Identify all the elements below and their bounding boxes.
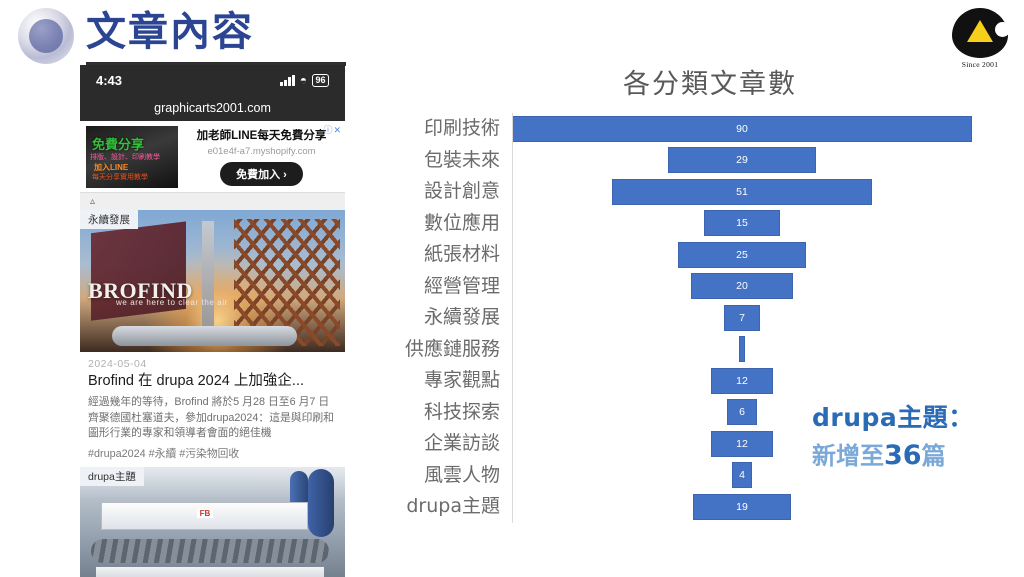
chart-bar-track: 20 [512,271,1010,303]
article2-image-duct-1 [308,469,334,537]
chart-category-label: 供應鏈服務 [380,334,512,366]
chart-bar: 20 [691,273,793,299]
header-bullet-icon [18,8,74,64]
chart-bar: 15 [704,210,781,236]
chart-bar: 12 [711,368,772,394]
chart-bar-value: 15 [736,217,748,229]
collapse-bar[interactable]: ▵ [80,193,345,210]
annotation-number: 36 [884,440,922,471]
browser-url-bar[interactable]: graphicarts2001.com [80,95,345,121]
chart-bar: 25 [678,242,806,268]
chart-category-label: 企業訪談 [380,428,512,460]
chart-axis-line [512,113,513,523]
url-text: graphicarts2001.com [154,101,271,115]
chart-row: 專家觀點12 [380,365,1010,397]
article1-title[interactable]: Brofind 在 drupa 2024 上加強企... [80,370,345,391]
article2-image-machine-logo: FB [197,509,214,518]
chart-bar-track: 12 [512,365,1010,397]
annotation-line1: drupa主題： [812,398,974,434]
chart-bar-value: 6 [739,406,745,418]
chart-category-label: 風雲人物 [380,460,512,492]
chart-bar-track: 90 [512,113,1010,145]
ad-thumb-line4: 每天分享實用教學 [92,172,148,182]
article1-date: 2024-05-04 [80,352,345,370]
ad-close-icon[interactable]: ⓘ✕ [323,123,342,136]
wifi-icon: ◓ [300,74,307,86]
phone-screenshot: 4:43 ◓ 96 graphicarts2001.com ⓘ✕ 免費分享 排版… [80,65,345,577]
page-title: 文章內容 [86,8,254,56]
chart-row: 經營管理20 [380,271,1010,303]
article1-category-tag[interactable]: 永續發展 [80,210,138,229]
phone-status-bar: 4:43 ◓ 96 [80,65,345,95]
chart-bar-track: 51 [512,176,1010,208]
chevron-up-icon[interactable]: ▵ [90,196,95,207]
annotation-suffix: 篇 [922,442,946,470]
chart-category-label: 科技探索 [380,397,512,429]
article2-image[interactable]: FB drupa主題 [80,467,345,577]
chart-category-label: 印刷技術 [380,113,512,145]
chart-bar-value: 90 [736,123,748,135]
chart-category-label: 包裝未來 [380,145,512,177]
slide-root: 文章內容 Since 2001 4:43 ◓ 96 graphicarts200… [0,0,1024,577]
chart-row: 永續發展7 [380,302,1010,334]
chart-category-label: 紙張材料 [380,239,512,271]
chart-category-label: 專家觀點 [380,365,512,397]
article-category-chart: 各分類文章數 印刷技術90包裝未來29設計創意51數位應用15紙張材料25經營管… [380,62,1010,562]
chart-bar-track: 15 [512,208,1010,240]
chart-bar-track [512,334,1010,366]
ad-banner[interactable]: ⓘ✕ 免費分享 排版、設計、印刷教學 加入LINE 每天分享實用教學 加老師LI… [80,121,345,193]
chart-bar: 29 [668,147,816,173]
triangle-glyph-icon [967,20,993,42]
chart-row: 包裝未來29 [380,145,1010,177]
status-time: 4:43 [96,73,122,88]
chart-bar: 51 [612,179,873,205]
chart-row: 數位應用15 [380,208,1010,240]
ad-thumbnail: 免費分享 排版、設計、印刷教學 加入LINE 每天分享實用教學 [86,126,178,188]
chart-bar-track: 19 [512,491,1010,523]
chart-bar-track: 7 [512,302,1010,334]
ad-domain: e01e4f-a7.myshopify.com [186,146,337,157]
chart-bar: 7 [724,305,760,331]
chart-bar-value: 4 [739,469,745,481]
chart-bar-track: 25 [512,239,1010,271]
article1-description: 經過幾年的等待，Brofind 將於5 月28 日至6 月7 日齊聚德國杜塞道夫… [80,391,345,442]
ad-headline: 加老師LINE每天免費分享 [186,127,337,143]
ad-body: 加老師LINE每天免費分享 e01e4f-a7.myshopify.com 免費… [186,127,337,186]
chart-title: 各分類文章數 [410,62,1010,101]
battery-icon: 96 [312,74,329,87]
article1-image-pipe [112,326,298,346]
article1-image-tagline: we are here to clear the air [116,298,228,307]
triangle-logo-icon [952,8,1008,58]
article2-image-roller [91,539,330,563]
chart-bar-value: 12 [736,438,748,450]
chart-bar-value: 12 [736,375,748,387]
chart-bar-value: 19 [736,501,748,513]
annotation-line2: 新增至36篇 [812,436,974,471]
annotation-prefix: 新增至 [812,442,884,470]
chart-category-label: 經營管理 [380,271,512,303]
status-indicators: ◓ 96 [280,74,329,87]
chart-category-label: 設計創意 [380,176,512,208]
chart-category-label: 數位應用 [380,208,512,240]
chart-bar-value: 51 [736,186,748,198]
ad-cta-button[interactable]: 免費加入 › [220,162,303,186]
chart-bar-value: 29 [736,154,748,166]
article2-image-base [96,567,324,577]
chart-category-label: drupa主題 [380,491,512,523]
chart-row: 印刷技術90 [380,113,1010,145]
chart-bar-value: 20 [736,280,748,292]
chart-bar: 90 [512,116,972,142]
chart-bar: 4 [732,462,752,488]
cellular-signal-icon [280,75,295,86]
chart-row: 設計創意51 [380,176,1010,208]
ad-thumb-line2: 排版、設計、印刷教學 [90,152,160,162]
chart-row: 供應鏈服務 [380,334,1010,366]
article2-category-tag[interactable]: drupa主題 [80,467,144,486]
ad-thumb-line1: 免費分享 [92,134,144,153]
chart-category-label: 永續發展 [380,302,512,334]
chart-bar: 6 [727,399,758,425]
chart-row: 紙張材料25 [380,239,1010,271]
article1-image[interactable]: BROFIND we are here to clear the air 永續發… [80,210,345,352]
chart-bar [739,336,744,362]
article1-hashtags[interactable]: #drupa2024 #永續 #污染物回收 [80,442,345,467]
chart-row: drupa主題19 [380,491,1010,523]
chart-bar-value: 25 [736,249,748,261]
chart-bar-track: 29 [512,145,1010,177]
chart-bar-value: 7 [739,312,745,324]
chart-bar: 19 [693,494,790,520]
drupa-annotation: drupa主題： 新增至36篇 [812,398,974,471]
chart-bar: 12 [711,431,772,457]
article1-image-tower [202,221,214,340]
